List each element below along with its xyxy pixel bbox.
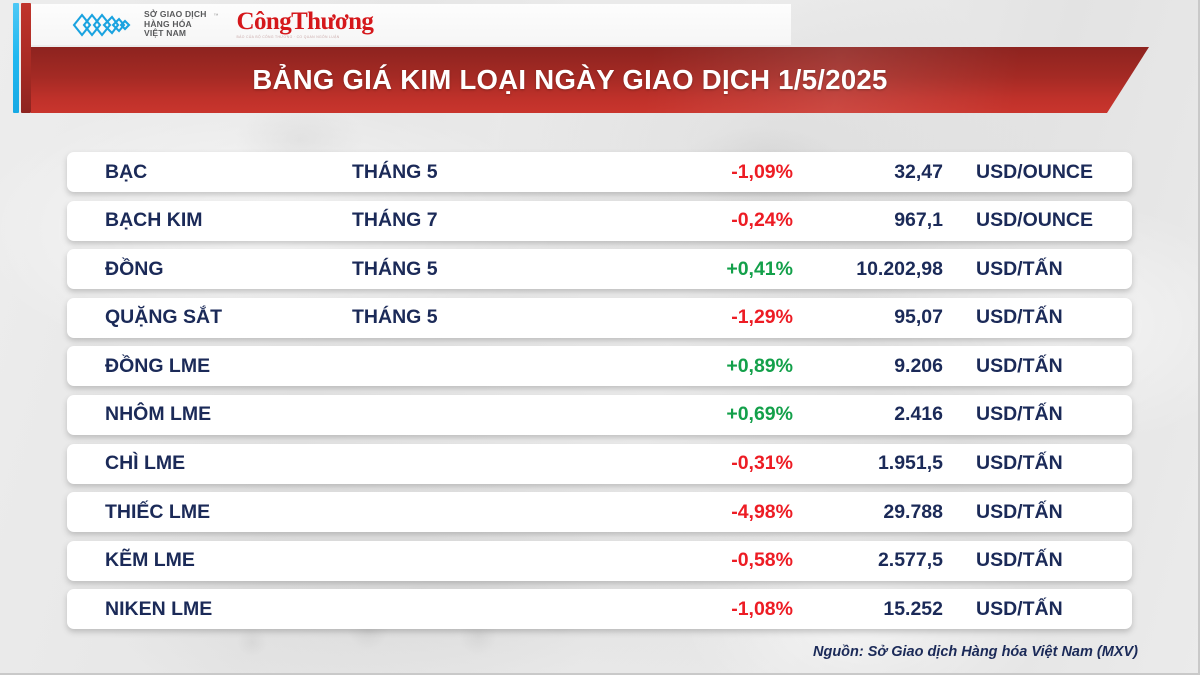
change-percent: +0,41% — [605, 258, 793, 281]
price-value: 1.951,5 — [793, 452, 943, 475]
change-percent: -0,31% — [605, 452, 793, 475]
change-percent: +0,69% — [605, 403, 793, 426]
table-row: KẼM LME -0,58% 2.577,5 USD/TẤN — [67, 541, 1132, 581]
chevron-weave-icon — [71, 10, 137, 40]
mxv-logo: SỞ GIAO DỊCH HÀNG HÓA VIỆT NAM ™ — [31, 10, 219, 40]
price-unit: USD/OUNCE — [943, 209, 1132, 232]
contract-month: THÁNG 5 — [352, 258, 605, 281]
commodity-name: BẠCH KIM — [67, 209, 352, 232]
table-row: THIẾC LME -4,98% 29.788 USD/TẤN — [67, 492, 1132, 532]
change-percent: +0,89% — [605, 355, 793, 378]
accent-stripe-red — [21, 3, 31, 113]
source-note: Nguồn: Sở Giao dịch Hàng hóa Việt Nam (M… — [813, 644, 1138, 660]
table-row: BẠCH KIM THÁNG 7 -0,24% 967,1 USD/OUNCE — [67, 201, 1132, 241]
table-row: QUẶNG SẮT THÁNG 5 -1,29% 95,07 USD/TẤN — [67, 298, 1132, 338]
price-value: 29.788 — [793, 501, 943, 524]
trademark-symbol: ™ — [214, 13, 219, 19]
congthuong-tagline: BÁO CỦA BỘ CÔNG THƯƠNG · CO QUAN NGÔN LU… — [237, 35, 374, 40]
change-percent: -1,09% — [605, 161, 793, 184]
price-value: 967,1 — [793, 209, 943, 232]
change-percent: -0,58% — [605, 549, 793, 572]
table-row: NHÔM LME +0,69% 2.416 USD/TẤN — [67, 395, 1132, 435]
logo-bar: SỞ GIAO DỊCH HÀNG HÓA VIỆT NAM ™ CôngThư… — [31, 4, 791, 45]
mxv-wordmark: SỞ GIAO DỊCH HÀNG HÓA VIỆT NAM — [144, 10, 207, 39]
change-percent: -4,98% — [605, 501, 793, 524]
congthuong-logo: CôngThương BÁO CỦA BỘ CÔNG THƯƠNG · CO Q… — [237, 9, 374, 40]
mxv-line-3: VIỆT NAM — [144, 29, 207, 39]
commodity-name: QUẶNG SẮT — [67, 306, 352, 329]
table-row: ĐỒNG LME +0,89% 9.206 USD/TẤN — [67, 346, 1132, 386]
commodity-name: NIKEN LME — [67, 598, 352, 621]
accent-stripe-cyan — [13, 3, 19, 113]
contract-month: THÁNG 7 — [352, 209, 605, 232]
table-row: CHÌ LME -0,31% 1.951,5 USD/TẤN — [67, 444, 1132, 484]
page-title: BẢNG GIÁ KIM LOẠI NGÀY GIAO DỊCH 1/5/202… — [252, 64, 887, 96]
change-percent: -0,24% — [605, 209, 793, 232]
price-value: 2.416 — [793, 403, 943, 426]
commodity-name: KẼM LME — [67, 549, 352, 572]
price-unit: USD/TẤN — [943, 355, 1132, 378]
price-value: 95,07 — [793, 306, 943, 329]
commodity-name: CHÌ LME — [67, 452, 352, 475]
price-value: 32,47 — [793, 161, 943, 184]
commodity-name: ĐỒNG LME — [67, 355, 352, 378]
price-unit: USD/TẤN — [943, 258, 1132, 281]
price-unit: USD/TẤN — [943, 549, 1132, 572]
commodity-name: BẠC — [67, 161, 352, 184]
price-unit: USD/TẤN — [943, 501, 1132, 524]
price-unit: USD/TẤN — [943, 306, 1132, 329]
price-unit: USD/TẤN — [943, 403, 1132, 426]
commodity-name: THIẾC LME — [67, 501, 352, 524]
price-unit: USD/TẤN — [943, 452, 1132, 475]
table-row: BẠC THÁNG 5 -1,09% 32,47 USD/OUNCE — [67, 152, 1132, 192]
price-value: 10.202,98 — [793, 258, 943, 281]
change-percent: -1,08% — [605, 598, 793, 621]
title-banner: BẢNG GIÁ KIM LOẠI NGÀY GIAO DỊCH 1/5/202… — [31, 47, 1149, 113]
price-value: 2.577,5 — [793, 549, 943, 572]
contract-month: THÁNG 5 — [352, 306, 605, 329]
table-row: ĐỒNG THÁNG 5 +0,41% 10.202,98 USD/TẤN — [67, 249, 1132, 289]
price-value: 9.206 — [793, 355, 943, 378]
price-unit: USD/OUNCE — [943, 161, 1132, 184]
price-value: 15.252 — [793, 598, 943, 621]
congthuong-wordmark: CôngThương — [237, 9, 374, 34]
change-percent: -1,29% — [605, 306, 793, 329]
metal-price-board: SỞ GIAO DỊCH HÀNG HÓA VIỆT NAM ™ CôngThư… — [0, 0, 1200, 675]
commodity-name: NHÔM LME — [67, 403, 352, 426]
contract-month: THÁNG 5 — [352, 161, 605, 184]
price-unit: USD/TẤN — [943, 598, 1132, 621]
table-row: NIKEN LME -1,08% 15.252 USD/TẤN — [67, 589, 1132, 629]
price-table: BẠC THÁNG 5 -1,09% 32,47 USD/OUNCE BẠCH … — [67, 152, 1132, 638]
commodity-name: ĐỒNG — [67, 258, 352, 281]
